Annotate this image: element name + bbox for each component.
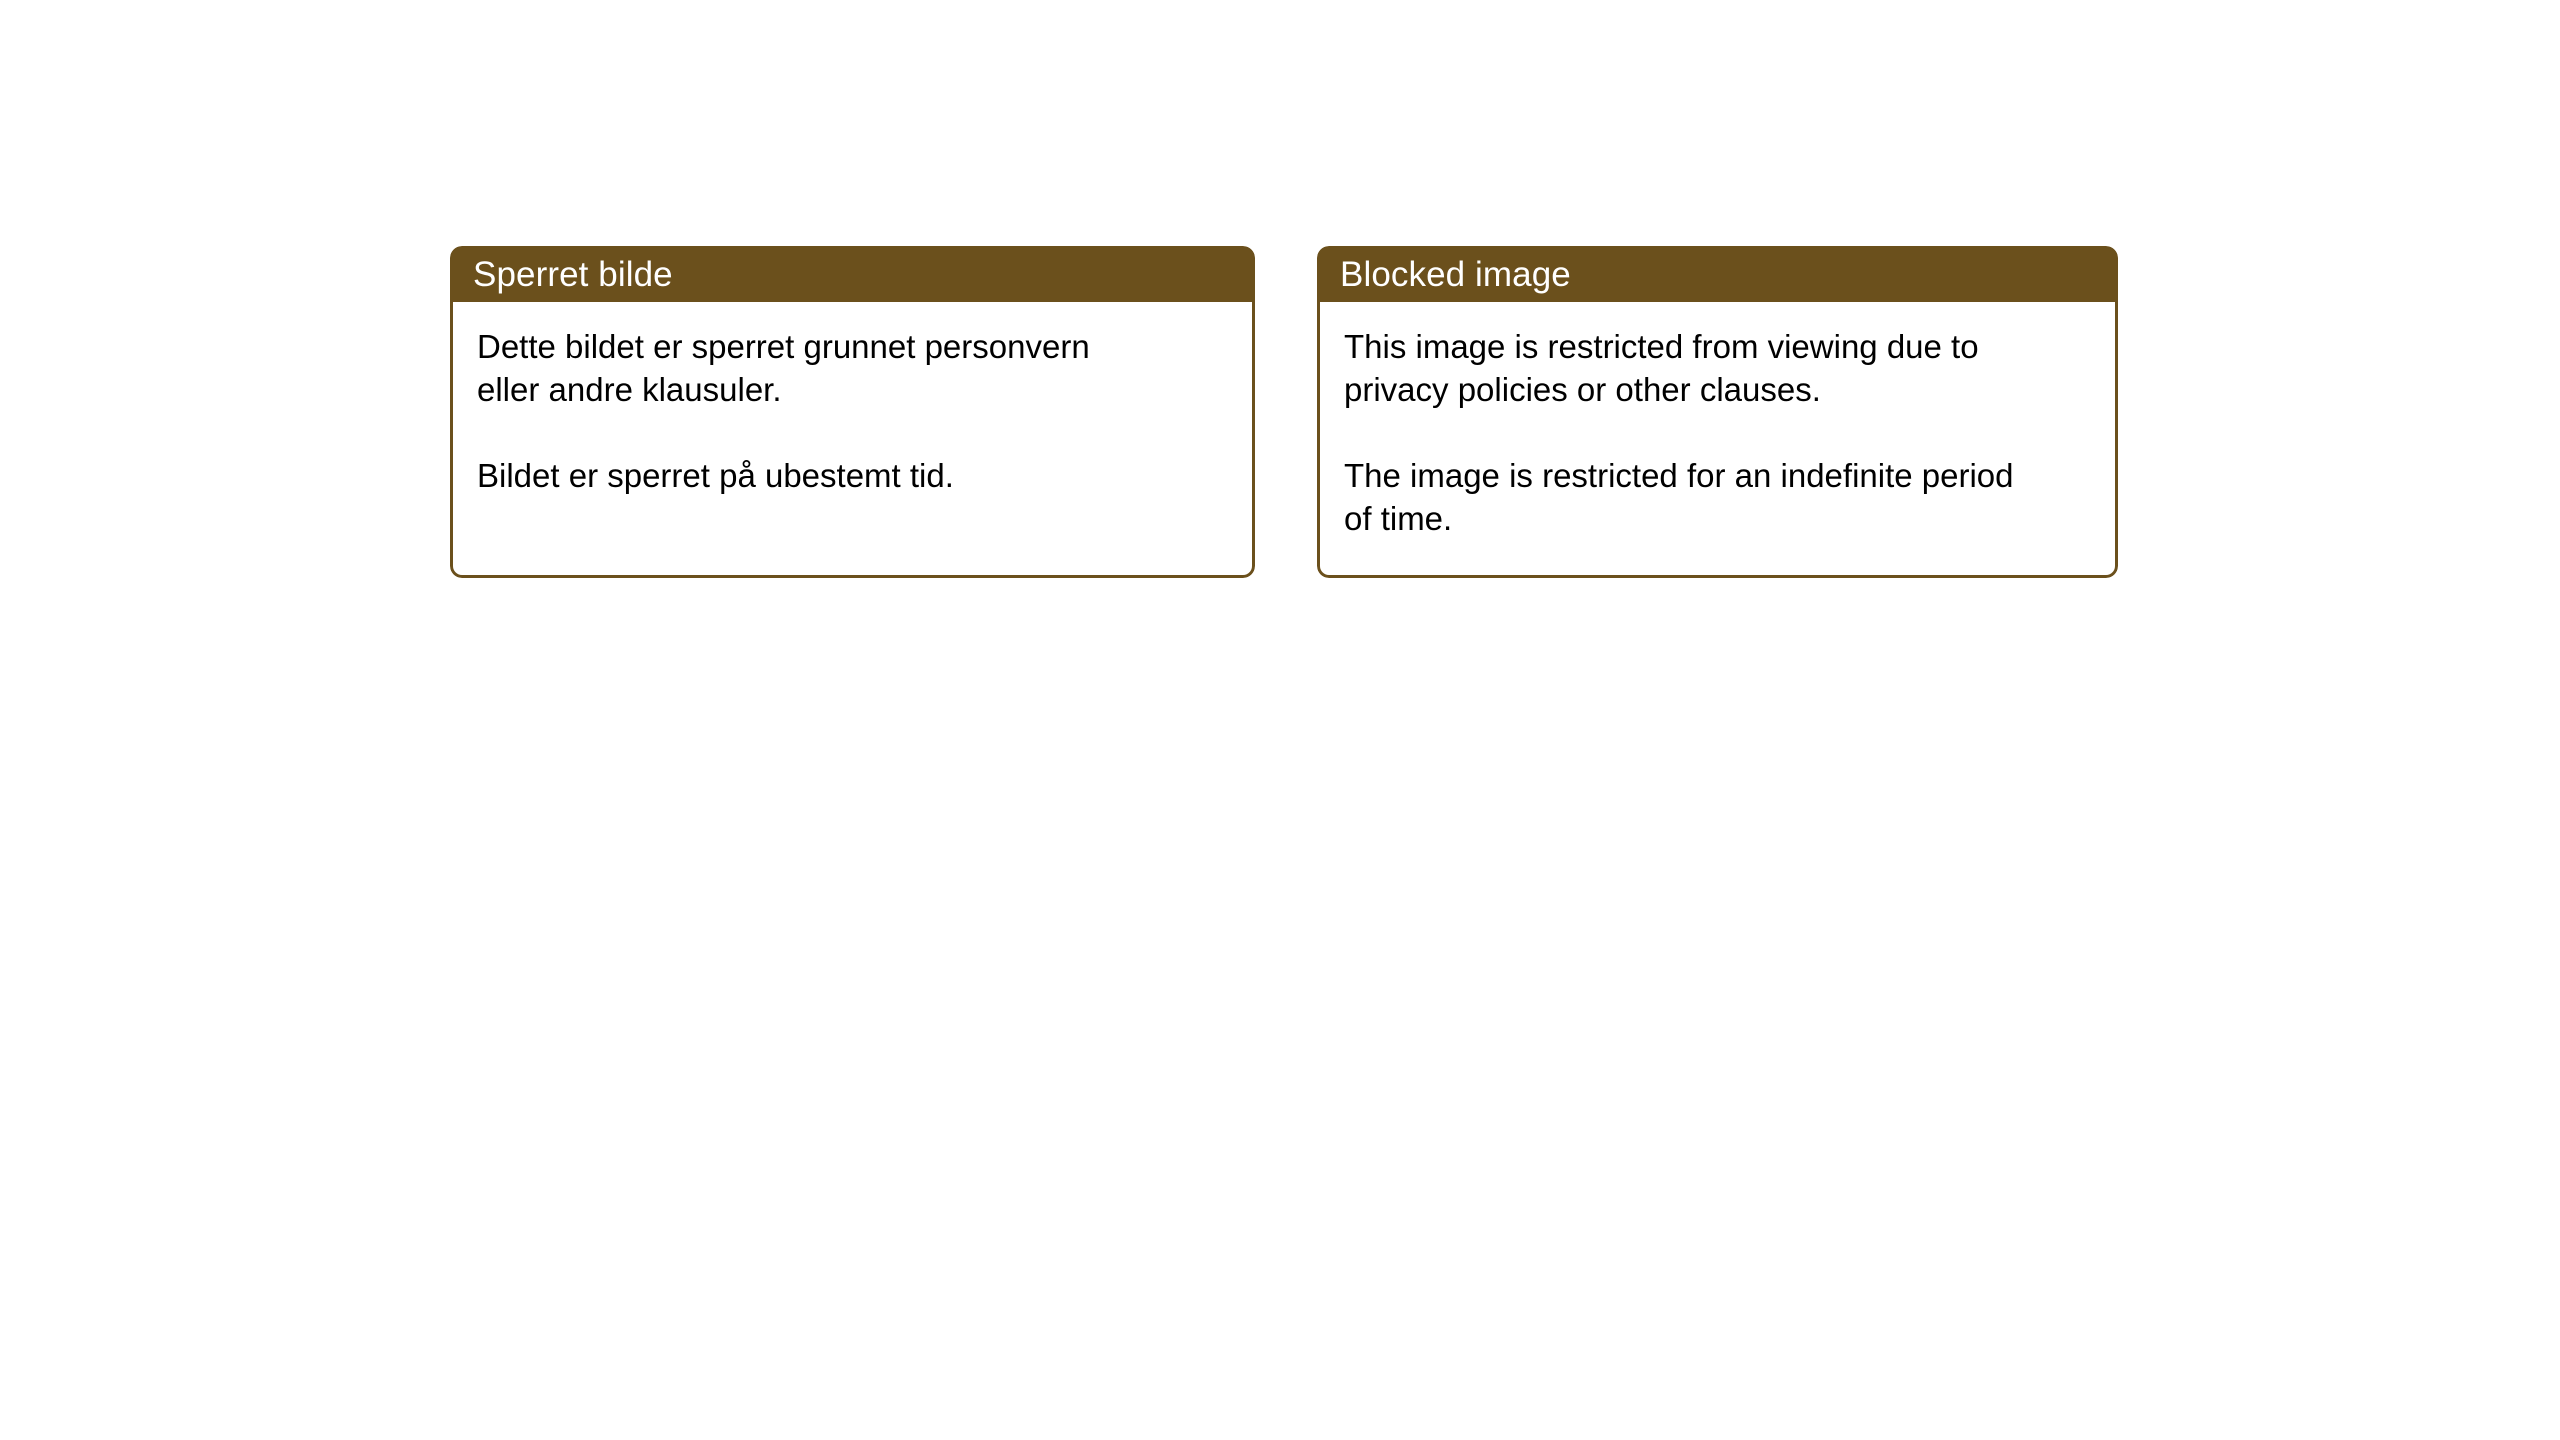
card-title-norwegian: Sperret bilde — [473, 257, 673, 292]
card-paragraph-secondary-norwegian: Bildet er sperret på ubestemt tid. — [477, 454, 1232, 497]
paragraph-spacer-norwegian — [477, 411, 1232, 454]
page-root: Sperret bilde Dette bildet er sperret gr… — [0, 0, 2560, 1440]
card-body-norwegian: Dette bildet er sperret grunnet personve… — [450, 302, 1255, 578]
paragraph-spacer-english — [1344, 411, 2095, 454]
notice-cards-container: Sperret bilde Dette bildet er sperret gr… — [450, 246, 2118, 578]
card-header-english: Blocked image — [1317, 246, 2118, 302]
card-paragraph-primary-english: This image is restricted from viewing du… — [1344, 325, 2095, 411]
card-paragraph-secondary-english: The image is restricted for an indefinit… — [1344, 454, 2095, 540]
card-header-norwegian: Sperret bilde — [450, 246, 1255, 302]
blocked-image-notice-card-english: Blocked image This image is restricted f… — [1317, 246, 2118, 578]
card-paragraph-primary-norwegian: Dette bildet er sperret grunnet personve… — [477, 325, 1232, 411]
blocked-image-notice-card-norwegian: Sperret bilde Dette bildet er sperret gr… — [450, 246, 1255, 578]
card-body-english: This image is restricted from viewing du… — [1317, 302, 2118, 578]
card-title-english: Blocked image — [1340, 257, 1571, 292]
